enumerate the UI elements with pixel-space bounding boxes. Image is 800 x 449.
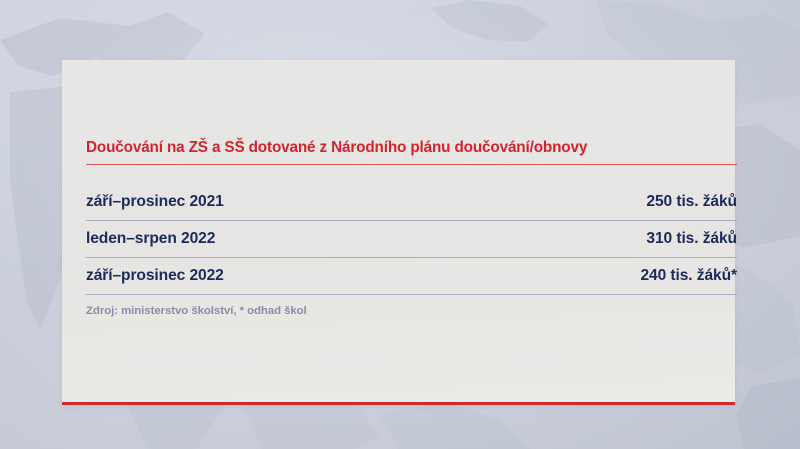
row-label: září–prosinec 2021 xyxy=(86,193,224,211)
row-label: září–prosinec 2022 xyxy=(86,267,224,285)
info-card: Doučování na ZŠ a SŠ dotované z Národníh… xyxy=(62,60,735,405)
table-row: leden–srpen 2022 310 tis. žáků xyxy=(86,221,737,258)
row-value: 250 tis. žáků xyxy=(646,193,737,211)
infographic-stage: Doučování na ZŠ a SŠ dotované z Národníh… xyxy=(0,0,800,449)
row-label: leden–srpen 2022 xyxy=(86,230,215,248)
table-row: září–prosinec 2022 240 tis. žáků* xyxy=(86,258,737,295)
data-table: září–prosinec 2021 250 tis. žáků leden–s… xyxy=(86,184,737,295)
row-value: 310 tis. žáků xyxy=(646,230,737,248)
source-note: Zdroj: ministerstvo školství, * odhad šk… xyxy=(86,305,307,317)
title-underline xyxy=(86,164,737,165)
page-title: Doučování na ZŠ a SŠ dotované z Národníh… xyxy=(86,139,587,157)
table-row: září–prosinec 2021 250 tis. žáků xyxy=(86,184,737,221)
row-value: 240 tis. žáků* xyxy=(640,267,737,285)
